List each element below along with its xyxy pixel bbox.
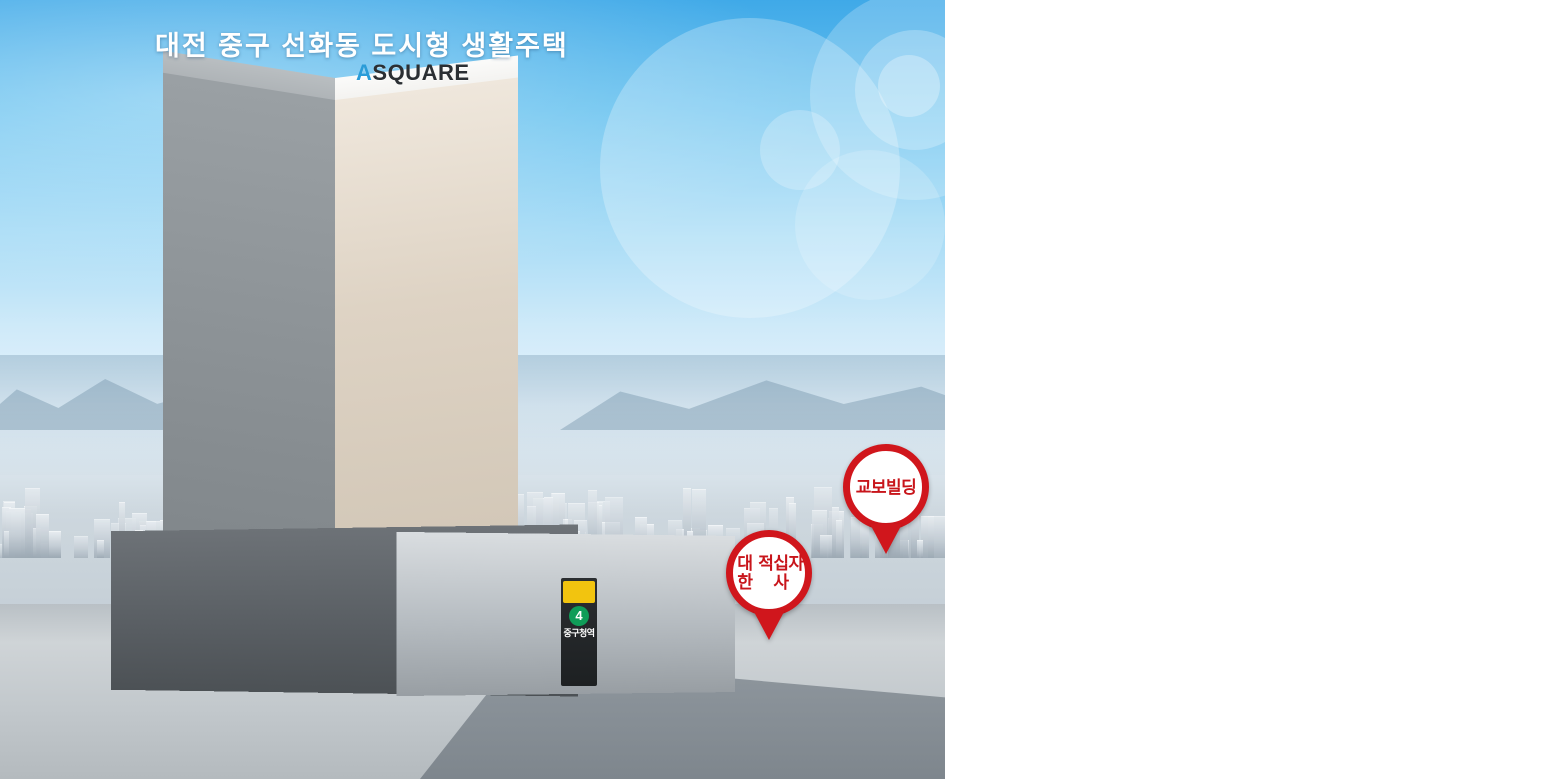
rooftop-asquare-sign: ASQUARE (356, 60, 468, 90)
rooftop-sign-a: A (356, 60, 372, 85)
map-pin-korean-red-cross[interactable]: 대한적십자사 (726, 530, 812, 640)
map-pin-tail (753, 610, 785, 640)
pylon-top-panel (563, 581, 595, 603)
project-summary-panel: 01. 사업개요 대지위치대전광역시 중구 선화동 379-1번외 3필지대지면… (945, 0, 1557, 779)
rooftop-sign-rest: SQUARE (372, 60, 469, 85)
presentation-slide: ASQUARE 4 중구청역 대전 중구 선화동 도시형 생활주택 교보빌딩 대… (0, 0, 1557, 779)
project-title-overlay: 대전 중구 선화동 도시형 생활주택 (155, 24, 585, 63)
map-pin-tail (870, 524, 902, 554)
map-pin-kyobo-building[interactable]: 교보빌딩 (843, 444, 929, 554)
project-rendering-image: ASQUARE 4 중구청역 대전 중구 선화동 도시형 생활주택 교보빌딩 대… (0, 0, 945, 779)
map-pin-label: 대한적십자사 (726, 530, 812, 616)
subway-line-number: 4 (569, 606, 589, 626)
subway-station-pylon: 4 중구청역 (561, 578, 597, 686)
map-pin-label: 교보빌딩 (843, 444, 929, 530)
subway-station-name: 중구청역 (561, 628, 597, 639)
